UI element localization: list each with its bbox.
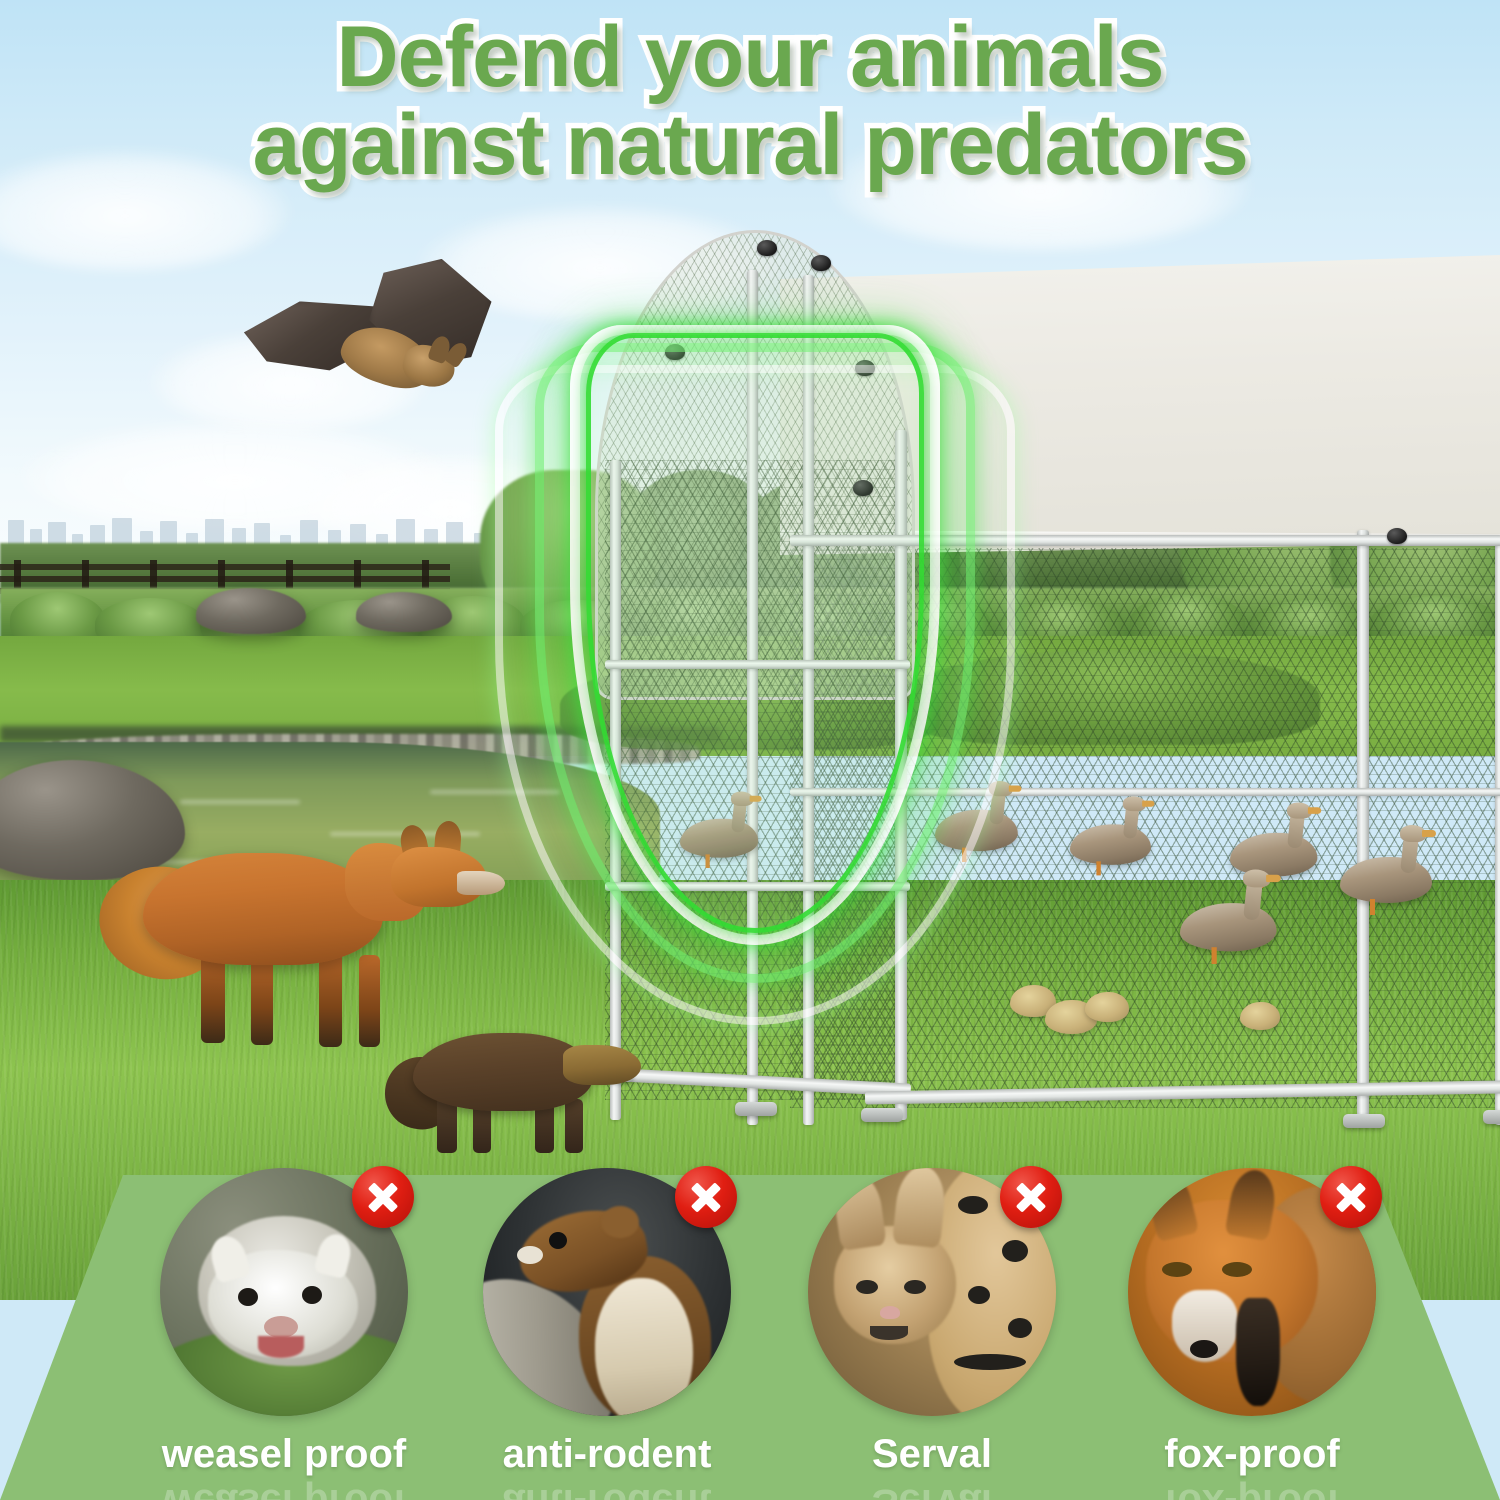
badge-label-fox-reflection: fox-proof xyxy=(1087,1480,1417,1500)
badge-label-serval: Serval xyxy=(767,1432,1097,1477)
badge-weasel[interactable] xyxy=(160,1168,408,1416)
red-x-icon xyxy=(1320,1166,1382,1228)
gosling xyxy=(1240,1002,1280,1030)
tarp-clip-icon xyxy=(811,255,831,271)
protection-shield xyxy=(495,325,1015,1045)
coop-foot-plate xyxy=(1343,1114,1385,1128)
tarp-clip-icon xyxy=(1387,528,1407,544)
headline-line-1: Defend your animals xyxy=(337,9,1164,105)
badge-label-serval-reflection: Serval xyxy=(767,1480,1097,1500)
badge-label-rodent-reflection: anti-rodent xyxy=(442,1480,772,1500)
coop-foot-plate xyxy=(861,1108,903,1122)
tarp-clip-icon xyxy=(757,240,777,256)
badge-label-weasel: weasel proof xyxy=(119,1432,449,1477)
marten-leg xyxy=(565,1099,583,1153)
badge-rodent[interactable] xyxy=(483,1168,731,1416)
marten-head xyxy=(563,1045,641,1085)
water-ripple xyxy=(180,800,300,804)
page-title: Defend your animals against natural pred… xyxy=(0,14,1500,189)
marten xyxy=(385,1005,685,1160)
badge-fox[interactable] xyxy=(1128,1168,1376,1416)
coop-foot-plate xyxy=(1483,1110,1500,1124)
product-feature-image: Defend your animals against natural pred… xyxy=(0,0,1500,1500)
fox-leg xyxy=(359,955,380,1047)
badge-label-weasel-reflection: weasel proof xyxy=(119,1480,449,1500)
badge-label-fox: fox-proof xyxy=(1087,1432,1417,1477)
red-x-icon xyxy=(675,1166,737,1228)
red-x-icon xyxy=(1000,1166,1062,1228)
coop-frame-post xyxy=(1357,530,1369,1125)
coop-foot-plate xyxy=(735,1102,777,1116)
coop-frame-post xyxy=(1495,540,1500,1125)
gosling xyxy=(1085,992,1129,1022)
bat xyxy=(245,258,490,433)
fox-snout xyxy=(457,871,505,895)
badge-label-rodent: anti-rodent xyxy=(442,1432,772,1477)
badge-serval[interactable] xyxy=(808,1168,1056,1416)
fox-leg xyxy=(251,953,273,1045)
red-x-icon xyxy=(352,1166,414,1228)
headline-line-2: against natural predators xyxy=(0,102,1500,190)
